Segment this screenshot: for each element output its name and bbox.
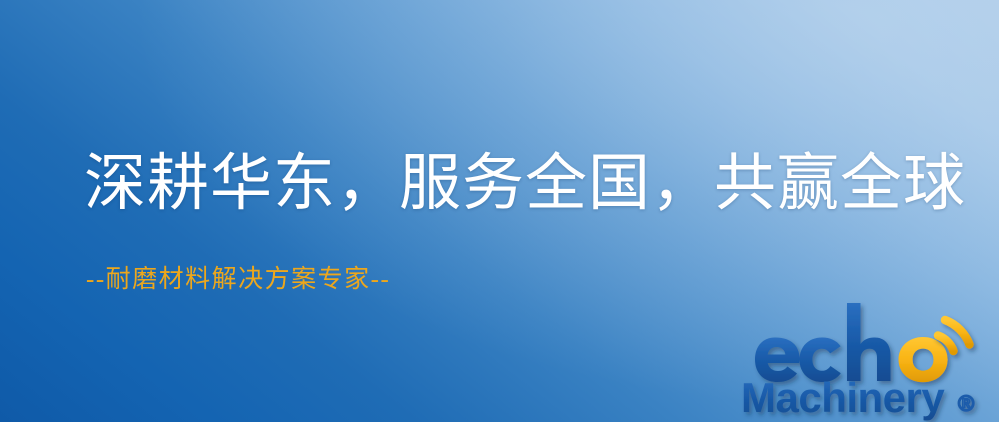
registered-trademark-icon: ® xyxy=(958,391,974,416)
echo-machinery-logo[interactable]: Machinery ® xyxy=(739,287,991,422)
logo-letter-h xyxy=(847,303,891,381)
logo-tagline-text: Machinery xyxy=(741,374,945,421)
hero-banner: 深耕华东，服务全国，共赢全球 --耐磨材料解决方案专家-- xyxy=(0,0,999,422)
logo-tagline-machinery: Machinery ® xyxy=(741,374,974,421)
banner-subtitle: --耐磨材料解决方案专家-- xyxy=(86,265,390,295)
logo-wordmark-echo xyxy=(755,303,948,382)
banner-headline: 深耕华东，服务全国，共赢全球 xyxy=(84,152,966,218)
